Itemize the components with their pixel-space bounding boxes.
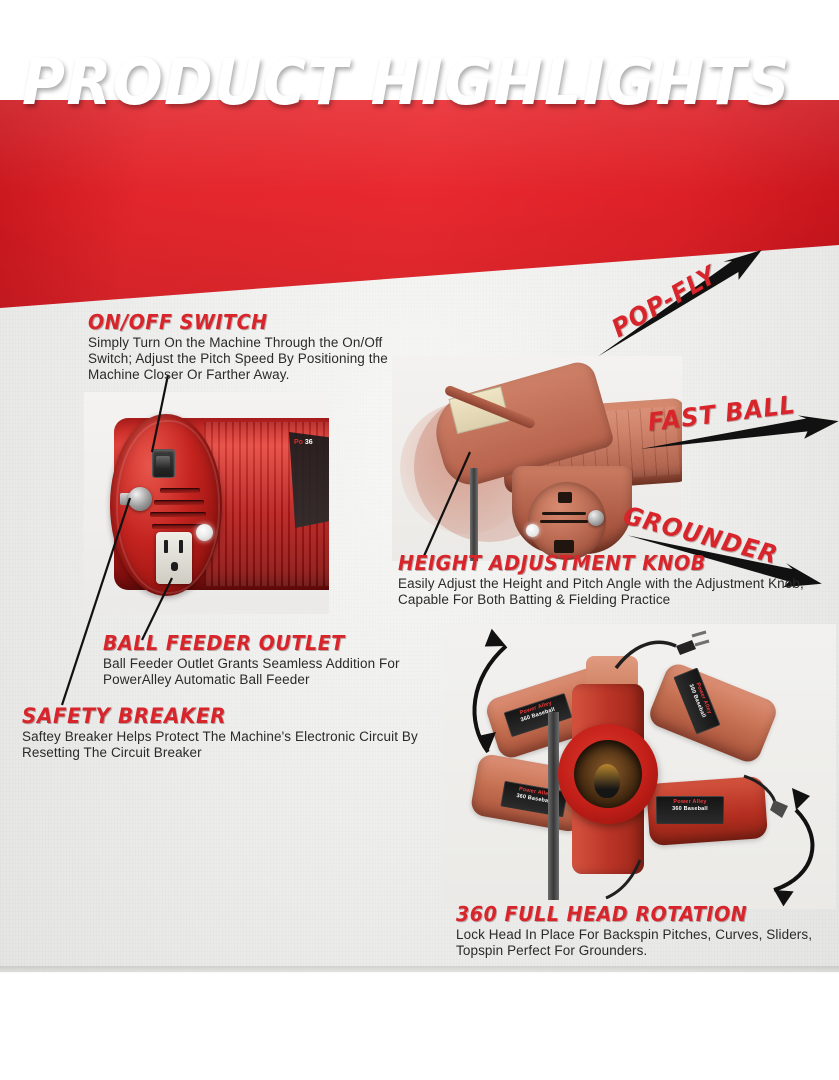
feature-body: Easily Adjust the Height and Pitch Angle… [398,576,838,608]
feature-heading: HEIGHT ADJUSTMENT KNOB [398,551,816,575]
vent-slot [150,512,206,517]
motor-port [558,492,572,503]
motor-vent [542,512,586,515]
height-adjustment-knob-icon [588,510,604,526]
feature-body: Simply Turn On the Machine Through the O… [88,335,418,383]
feature-heading: BALL FEEDER OUTLET [103,631,417,655]
feature-body: Ball Feeder Outlet Grants Seamless Addit… [103,656,433,688]
feature-heading: 360 FULL HEAD ROTATION [456,902,822,926]
feature-heading: ON/OFF SWITCH [88,310,402,334]
feature-height-adjustment-knob: HEIGHT ADJUSTMENT KNOB Easily Adjust the… [398,551,838,608]
safety-breaker-button-icon [128,487,152,511]
feature-on-off-switch: ON/OFF SWITCH Simply Turn On the Machine… [88,310,418,383]
photo-motor-endcap: Po 36 [84,392,329,614]
feature-body: Saftey Breaker Helps Protect The Machine… [22,729,422,761]
feature-safety-breaker: SAFETY BREAKER Saftey Breaker Helps Prot… [22,704,422,761]
ball-feeder-outlet-icon [156,532,192,584]
feature-ball-feeder-outlet: BALL FEEDER OUTLET Ball Feeder Outlet Gr… [103,631,433,688]
feature-heading: SAFETY BREAKER [22,704,402,728]
on-off-switch-icon [152,449,175,478]
rotation-arrows-icon [444,624,836,909]
product-label-text: Po 36 [294,438,329,449]
photo-head-rotation: Power Alley360 Baseball Power Alley360 B… [444,624,836,909]
motor-led-icon [526,524,539,537]
page-title: PRODUCT HIGHLIGHTS [22,46,791,119]
label-model-fragment: 36 [305,439,313,446]
infographic-page: PRODUCT HIGHLIGHTS Po 36 [0,0,839,1080]
vent-slot [160,488,200,493]
power-led-icon [196,524,213,541]
support-pole [470,468,478,561]
motor-vent [540,520,588,523]
sheet-bottom-edge [0,966,839,974]
vent-slot [154,500,204,505]
label-brand-fragment: Po [294,439,303,446]
feature-360-full-head-rotation: 360 FULL HEAD ROTATION Lock Head In Plac… [456,902,839,959]
feature-body: Lock Head In Place For Backspin Pitches,… [456,927,839,959]
